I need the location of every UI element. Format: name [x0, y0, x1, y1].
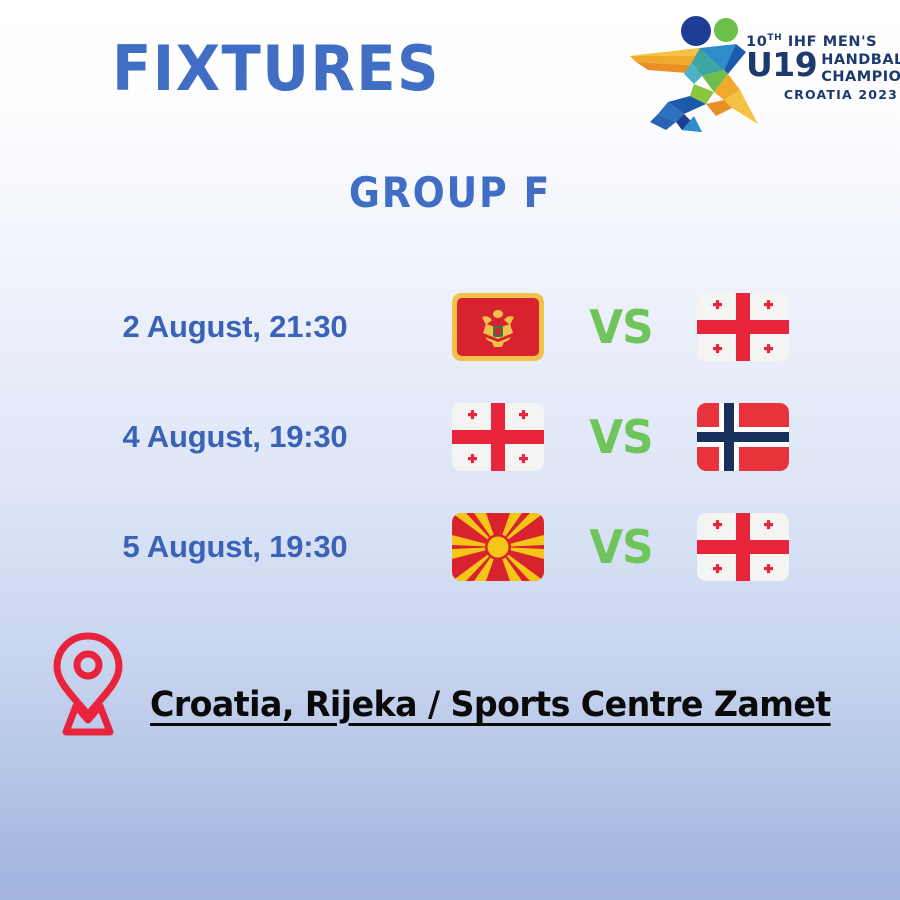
vs-label: VS — [569, 410, 674, 464]
home-team-flag — [450, 402, 546, 472]
north-macedonia-flag — [452, 513, 544, 581]
logo-age-category: U19 — [746, 50, 817, 80]
away-team-flag — [695, 512, 791, 582]
vs-label: VS — [569, 300, 674, 354]
vs-label: VS — [569, 520, 674, 574]
logo-line-handball-world: HANDBALL WORLD — [821, 52, 900, 68]
logo-edition-suffix: TH — [767, 33, 782, 43]
location-pin-icon — [48, 630, 128, 738]
fixture-date: 4 August, 19:30 — [60, 419, 410, 455]
logo-line-main: U19 HANDBALL WORLD CHAMPIONSHIP — [746, 50, 898, 84]
page-title: FIXTURES — [112, 38, 440, 100]
fixtures-poster: FIXTURES — [0, 0, 900, 900]
logo-line-host-year: CROATIA 2023 — [746, 87, 898, 102]
fixture-date: 2 August, 21:30 — [60, 309, 410, 345]
handball-player-logo-icon — [628, 4, 760, 134]
georgia-flag — [697, 293, 789, 361]
venue-block: Croatia, Rijeka / Sports Centre Zamet — [48, 630, 868, 738]
montenegro-flag — [452, 293, 544, 361]
fixtures-list: 2 August, 21:30 — [0, 272, 900, 602]
home-team-flag — [450, 292, 546, 362]
away-team-flag — [695, 402, 791, 472]
logo-title-lines: HANDBALL WORLD CHAMPIONSHIP — [821, 50, 900, 84]
georgia-flag — [452, 403, 544, 471]
logo-text-block: 10TH IHF MEN'S U19 HANDBALL WORLD CHAMPI… — [746, 34, 898, 102]
championship-logo: 10TH IHF MEN'S U19 HANDBALL WORLD CHAMPI… — [628, 4, 896, 136]
away-team-flag — [695, 292, 791, 362]
logo-line-championship: CHAMPIONSHIP — [821, 69, 900, 85]
home-team-flag — [450, 512, 546, 582]
venue-name: Croatia, Rijeka / Sports Centre Zamet — [150, 685, 831, 725]
fixture-row: 2 August, 21:30 — [0, 272, 900, 382]
fixture-date: 5 August, 19:30 — [60, 529, 410, 565]
group-heading: GROUP F — [45, 168, 855, 217]
georgia-flag — [697, 513, 789, 581]
norway-flag — [697, 403, 789, 471]
fixture-row: 4 August, 19:30 — [0, 382, 900, 492]
fixture-row: 5 August, 19:30 — [0, 492, 900, 602]
